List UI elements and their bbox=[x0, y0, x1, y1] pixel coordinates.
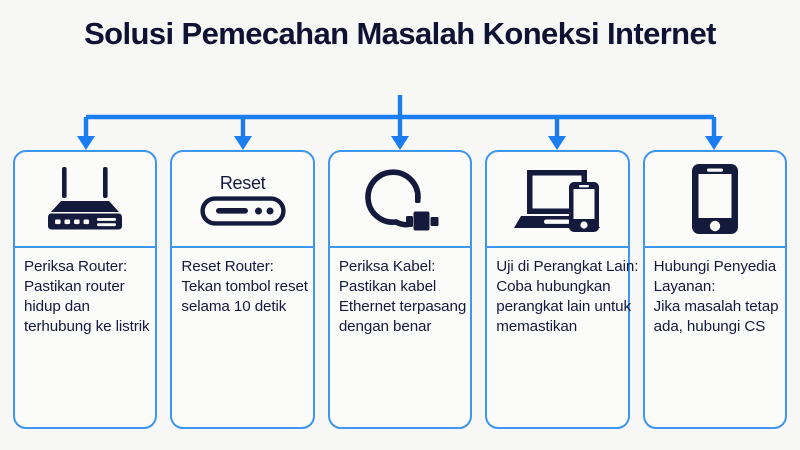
card-check-cable[interactable]: Periksa Kabel: Pastikan kabel Ethernet t… bbox=[328, 150, 472, 429]
laptop-phone-icon bbox=[509, 164, 605, 234]
arrow-head-4 bbox=[548, 136, 566, 150]
arrow-head-1 bbox=[77, 136, 95, 150]
cards-row: Periksa Router: Pastikan router hidup da… bbox=[13, 150, 787, 429]
card-text: Reset Router: Tekan tombol reset selama … bbox=[172, 248, 312, 427]
ethernet-cable-icon bbox=[360, 164, 440, 234]
arrow-head-5 bbox=[705, 136, 723, 150]
reset-button-icon: Reset bbox=[200, 173, 286, 226]
arrow-head-2 bbox=[234, 136, 252, 150]
reset-pill-shape bbox=[200, 196, 286, 226]
card-text: Periksa Kabel: Pastikan kabel Ethernet t… bbox=[330, 248, 470, 427]
card-contact-provider[interactable]: Hubungi Penyedia Layanan: Jika masalah t… bbox=[643, 150, 787, 429]
smartphone-icon bbox=[690, 162, 740, 236]
card-reset-router[interactable]: Reset Reset Router: Tekan tombol reset s… bbox=[170, 150, 314, 429]
card-icon-area bbox=[15, 152, 155, 248]
card-icon-area: Reset bbox=[172, 152, 312, 248]
card-text: Periksa Router: Pastikan router hidup da… bbox=[15, 248, 155, 427]
card-icon-area bbox=[645, 152, 785, 248]
card-text: Hubungi Penyedia Layanan: Jika masalah t… bbox=[645, 248, 785, 427]
phone-overlay bbox=[569, 182, 599, 232]
page-title: Solusi Pemecahan Masalah Koneksi Interne… bbox=[0, 16, 800, 52]
card-icon-area bbox=[487, 152, 627, 248]
card-check-router[interactable]: Periksa Router: Pastikan router hidup da… bbox=[13, 150, 157, 429]
router-icon bbox=[39, 165, 131, 233]
card-text: Uji di Perangkat Lain: Coba hubungkan pe… bbox=[487, 248, 653, 427]
arrow-head-3 bbox=[391, 136, 409, 150]
reset-icon-label: Reset bbox=[220, 173, 266, 194]
card-icon-area bbox=[330, 152, 470, 248]
card-test-other-device[interactable]: Uji di Perangkat Lain: Coba hubungkan pe… bbox=[485, 150, 629, 429]
